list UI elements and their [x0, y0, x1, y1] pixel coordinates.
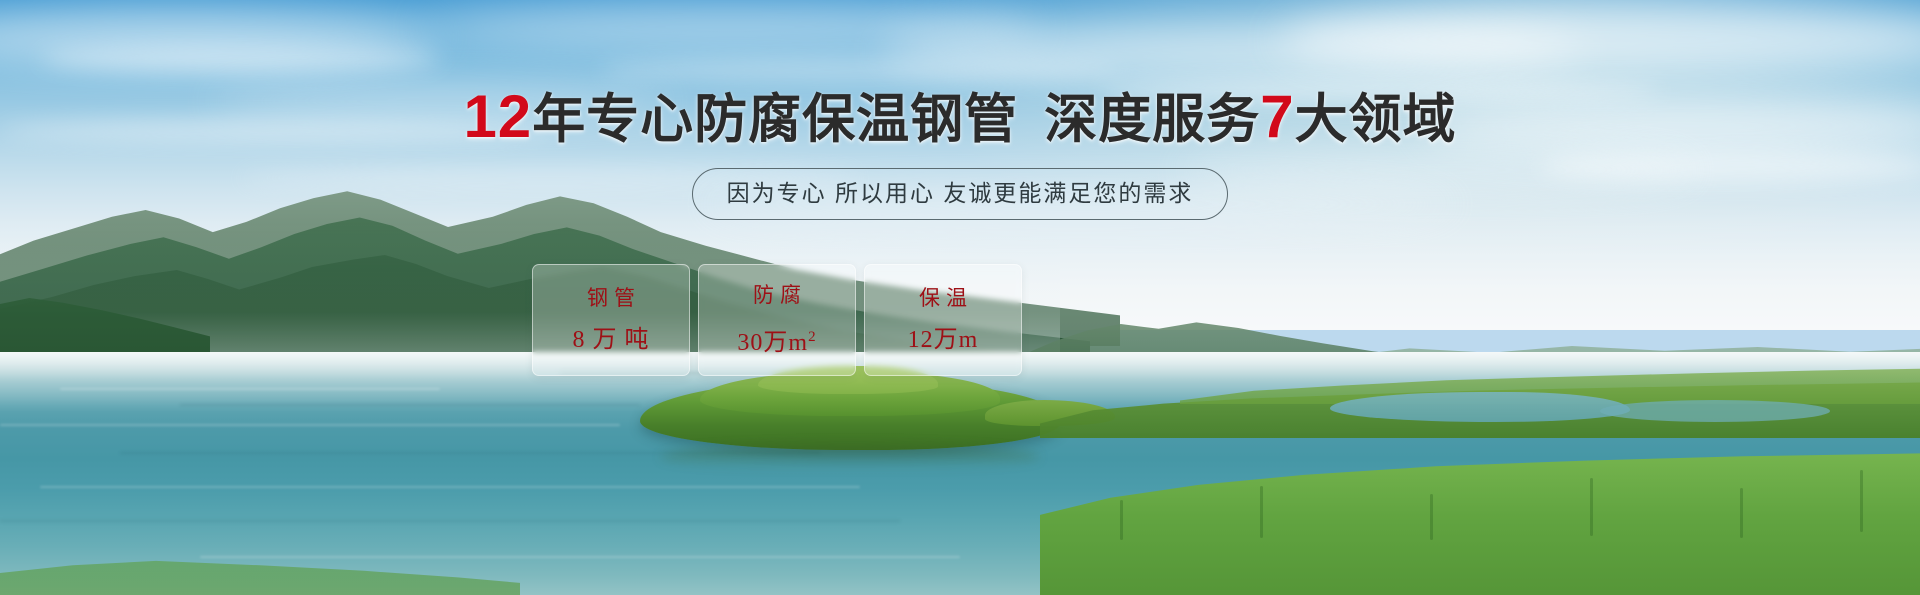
grass-blade: [1860, 470, 1863, 532]
banner-headline: 12年专心防腐保温钢管深度服务7大领域: [0, 84, 1920, 153]
hero-banner: 12年专心防腐保温钢管深度服务7大领域 因为专心 所以用心 友诚更能满足您的需求…: [0, 0, 1920, 595]
grass-blade: [1740, 488, 1743, 538]
headline-years-rest: 年专心防腐保温钢管: [532, 90, 1018, 149]
cloud-streak-icon: [40, 46, 440, 72]
stat-value-text: 30: [737, 330, 763, 356]
stat-card-group: 钢管 8 万 吨 防腐 30万m2 保温 12万m: [532, 264, 1022, 376]
water-ripple: [0, 520, 900, 522]
water-inlet: [1330, 392, 1630, 422]
headline-years-number: 12: [463, 83, 532, 150]
headline-fields-number: 7: [1260, 83, 1294, 150]
island-reflection: [660, 444, 1040, 470]
stat-card-value: 30万m2: [737, 322, 816, 358]
water-ripple: [200, 556, 960, 558]
stat-card-label: 保温: [913, 285, 973, 313]
grass-blade: [1260, 486, 1263, 538]
stat-card-insulation[interactable]: 保温 12万m: [864, 264, 1022, 376]
stat-card-value: 8 万 吨: [573, 325, 650, 355]
banner-subtitle-wrapper: 因为专心 所以用心 友诚更能满足您的需求: [0, 168, 1920, 220]
headline-fields-rest: 大领域: [1295, 90, 1457, 149]
stat-card-anticorrosion[interactable]: 防腐 30万m2: [698, 264, 856, 376]
grass-blade: [1590, 478, 1593, 536]
stat-value-unit: 万m: [763, 330, 808, 356]
water-ripple: [40, 486, 860, 488]
grass-blade: [1120, 500, 1123, 540]
water-inlet: [1600, 400, 1830, 422]
banner-subtitle: 因为专心 所以用心 友诚更能满足您的需求: [692, 168, 1229, 220]
headline-service: 深度服务: [1044, 90, 1260, 149]
stat-value-text: 12万m: [908, 327, 979, 353]
stat-value-superscript: 2: [808, 329, 817, 345]
grass-blade: [1430, 494, 1433, 540]
stat-card-steel-pipe[interactable]: 钢管 8 万 吨: [532, 264, 690, 376]
water-ripple: [0, 424, 620, 426]
stat-card-value: 12万m: [908, 325, 979, 355]
stat-value-text: 8 万 吨: [573, 327, 650, 353]
stat-card-label: 钢管: [581, 285, 641, 313]
water-ripple: [60, 388, 440, 390]
stat-card-label: 防腐: [747, 282, 807, 310]
water-ripple: [180, 404, 640, 406]
